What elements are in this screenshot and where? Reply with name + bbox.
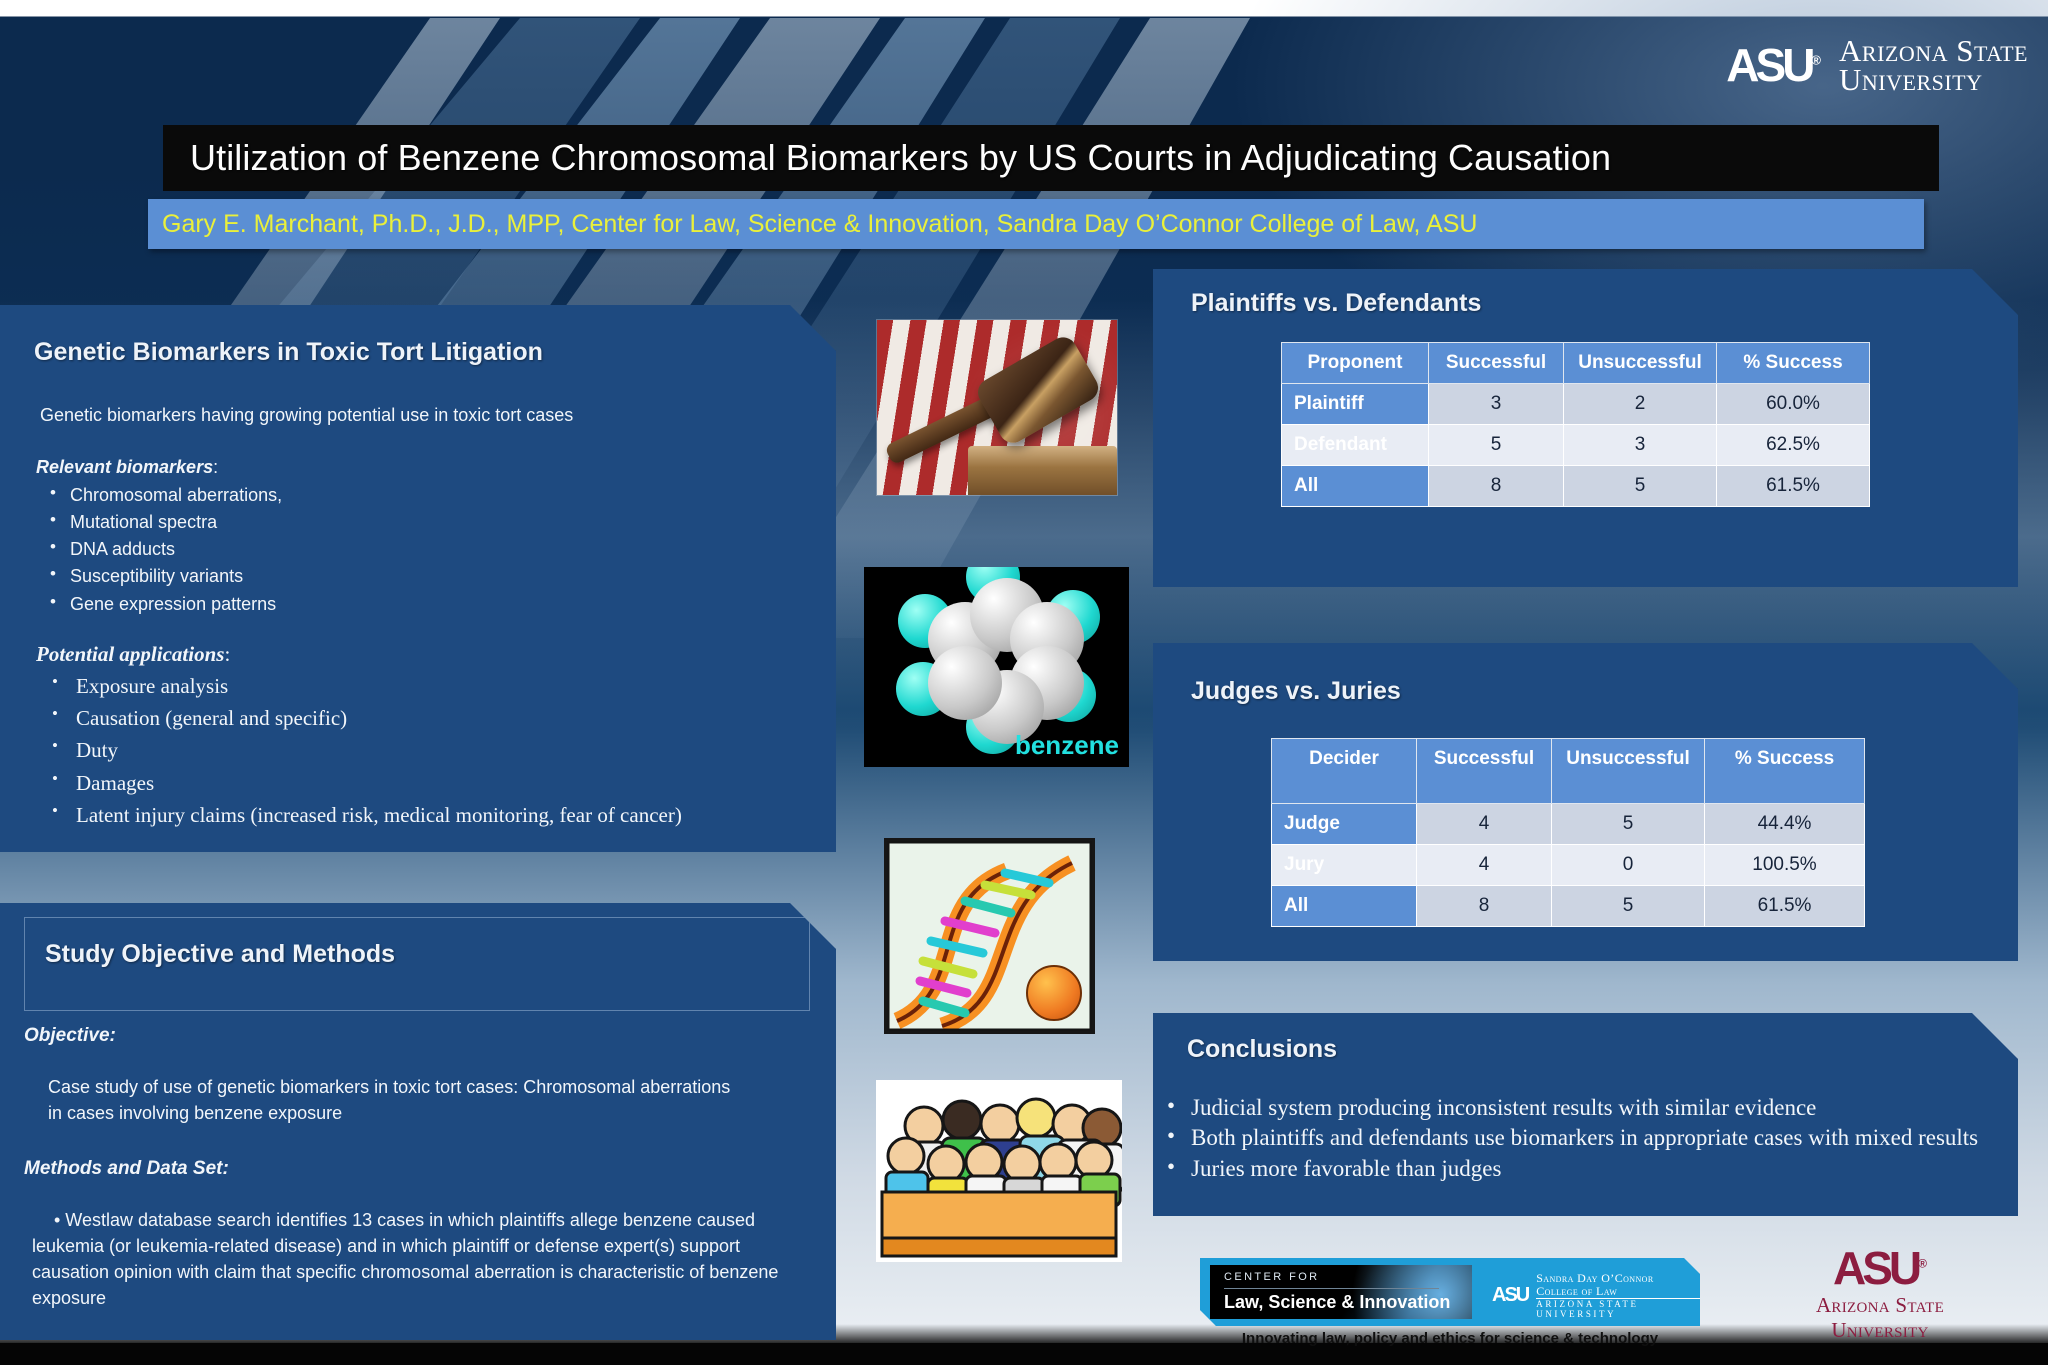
- judges-juries-table: Decider Successful Unsuccessful % Succes…: [1271, 738, 1865, 927]
- asu-logo-header: ASU® Arizona State University: [1726, 36, 2028, 95]
- list-item-text: Both plaintiffs and defendants use bioma…: [1191, 1125, 1978, 1150]
- panel-conclusions-title: Conclusions: [1187, 1035, 1337, 1064]
- panel-plaintiffs-title: Plaintiffs vs. Defendants: [1191, 289, 1481, 318]
- panel-conclusions: Conclusions • Judicial system producing …: [1153, 1013, 2018, 1216]
- plaintiffs-defendants-table: Proponent Successful Unsuccessful % Succ…: [1281, 342, 1870, 507]
- sandra-day-oconnor-logo: ASU Sandra Day O’Connor College of Law A…: [1492, 1272, 1700, 1319]
- asu-wordmark-footer: Arizona State University: [1770, 1293, 1990, 1343]
- cell-successful: 4: [1417, 804, 1552, 845]
- cell-unsuccessful: 5: [1552, 804, 1705, 845]
- cell-successful: 8: [1429, 466, 1564, 507]
- list-item: Damages: [36, 769, 816, 797]
- list-item: DNA adducts: [36, 537, 796, 561]
- study-objective-title-frame: Study Objective and Methods: [24, 917, 810, 1011]
- cell-row-label: All: [1282, 466, 1429, 507]
- panel-judges-title: Judges vs. Juries: [1191, 677, 1401, 706]
- methods-text: • Westlaw database search identifies 13 …: [32, 1207, 792, 1311]
- cell-unsuccessful: 0: [1552, 845, 1705, 886]
- asu-mark-text: ASU: [1833, 1242, 1918, 1294]
- benzene-caption: benzene: [1015, 730, 1119, 761]
- gavel-head-shape: [972, 332, 1103, 448]
- relevant-biomarkers-list: Chromosomal aberrations, Mutational spec…: [36, 483, 796, 616]
- column-header-successful: Successful: [1417, 739, 1552, 804]
- bottom-black-bar: [0, 1343, 2048, 1365]
- law-science-innovation-logo: CENTER FOR Law, Science & Innovation ASU…: [1200, 1258, 1700, 1326]
- authors-bar: Gary E. Marchant, Ph.D., J.D., MPP, Cent…: [148, 199, 1924, 249]
- lsi-tagline: Innovating law, policy and ethics for sc…: [1200, 1330, 1700, 1347]
- asu-logo-footer: ASU® Arizona State University: [1770, 1245, 1990, 1343]
- asu-mark-icon: ASU: [1492, 1284, 1528, 1307]
- jury-box-icon: [876, 1080, 1122, 1262]
- cell-successful: 4: [1417, 845, 1552, 886]
- cell-pct-success: 100.5%: [1705, 845, 1865, 886]
- panel-judges-vs-juries: Judges vs. Juries Decider Successful Uns…: [1153, 643, 2018, 961]
- table-row: Judge 4 5 44.4%: [1272, 804, 1865, 845]
- list-item-text: Judicial system producing inconsistent r…: [1191, 1095, 1816, 1120]
- table-row: All 8 5 61.5%: [1282, 466, 1870, 507]
- college-line3: ARIZONA STATE UNIVERSITY: [1536, 1298, 1700, 1319]
- panel-plaintiffs-vs-defendants: Plaintiffs vs. Defendants Proponent Succ…: [1153, 269, 2018, 587]
- angry-face-icon: [1026, 965, 1082, 1021]
- lsi-logo-black-panel: CENTER FOR Law, Science & Innovation: [1210, 1265, 1472, 1319]
- list-item: Latent injury claims (increased risk, me…: [36, 801, 816, 829]
- cell-row-label: Defendant: [1282, 425, 1429, 466]
- cell-unsuccessful: 5: [1552, 886, 1705, 927]
- table-row: Jury 4 0 100.5%: [1272, 845, 1865, 886]
- authors-line: Gary E. Marchant, Ph.D., J.D., MPP, Cent…: [148, 210, 1477, 239]
- list-item: Chromosomal aberrations,: [36, 483, 796, 507]
- asu-wordmark-line1: Arizona State: [1839, 36, 2028, 65]
- cell-pct-success: 60.0%: [1717, 384, 1870, 425]
- cell-unsuccessful: 3: [1564, 425, 1717, 466]
- list-item-text: Juries more favorable than judges: [1191, 1156, 1501, 1181]
- asu-mark-icon: ASU®: [1770, 1245, 1990, 1291]
- cell-successful: 5: [1429, 425, 1564, 466]
- potential-applications-list: Exposure analysis Causation (general and…: [36, 672, 816, 829]
- table-header-row: Decider Successful Unsuccessful % Succes…: [1272, 739, 1865, 804]
- list-item: Mutational spectra: [36, 510, 796, 534]
- column-header-pct-success: % Success: [1717, 343, 1870, 384]
- cell-pct-success: 61.5%: [1717, 466, 1870, 507]
- cell-pct-success: 44.4%: [1705, 804, 1865, 845]
- cell-row-label: All: [1272, 886, 1417, 927]
- bullet-icon: •: [1167, 1121, 1175, 1151]
- gavel-photo: [877, 320, 1117, 495]
- cell-row-label: Plaintiff: [1282, 384, 1429, 425]
- cell-pct-success: 61.5%: [1705, 886, 1865, 927]
- bullet-icon: •: [1167, 1152, 1175, 1182]
- column-header-unsuccessful: Unsuccessful: [1552, 739, 1705, 804]
- cell-row-label: Jury: [1272, 845, 1417, 886]
- list-item: Exposure analysis: [36, 672, 816, 700]
- jury-illustration: [876, 1080, 1122, 1262]
- column-header-successful: Successful: [1429, 343, 1564, 384]
- relevant-biomarkers-colon: :: [213, 457, 218, 477]
- cell-unsuccessful: 5: [1564, 466, 1717, 507]
- list-item: Gene expression patterns: [36, 592, 796, 616]
- table-row: All 8 5 61.5%: [1272, 886, 1865, 927]
- list-item: Duty: [36, 736, 816, 764]
- asu-mark-icon: ASU®: [1726, 42, 1827, 88]
- asu-wordmark-line2: University: [1839, 65, 2028, 94]
- page-title: Utilization of Benzene Chromosomal Bioma…: [163, 137, 1611, 179]
- table-header-row: Proponent Successful Unsuccessful % Succ…: [1282, 343, 1870, 384]
- list-item: • Judicial system producing inconsistent…: [1165, 1093, 2005, 1123]
- poster-title-bar: Utilization of Benzene Chromosomal Bioma…: [163, 125, 1939, 191]
- column-header-decider: Decider: [1272, 739, 1417, 804]
- column-header-unsuccessful: Unsuccessful: [1564, 343, 1717, 384]
- benzene-molecule-image: benzene: [864, 567, 1129, 767]
- panel-genetic-biomarkers-title: Genetic Biomarkers in Toxic Tort Litigat…: [34, 338, 543, 367]
- cell-successful: 8: [1417, 886, 1552, 927]
- college-wordmark: Sandra Day O’Connor College of Law ARIZO…: [1536, 1272, 1700, 1319]
- list-item: Susceptibility variants: [36, 564, 796, 588]
- registered-icon: ®: [1811, 53, 1821, 68]
- conclusions-list: • Judicial system producing inconsistent…: [1165, 1093, 2005, 1184]
- biomarkers-intro: Genetic biomarkers having growing potent…: [40, 403, 800, 427]
- list-item: • Both plaintiffs and defendants use bio…: [1165, 1123, 2005, 1153]
- poster-canvas: ASU® Arizona State University Utilizatio…: [0, 0, 2048, 1365]
- column-header-proponent: Proponent: [1282, 343, 1429, 384]
- potential-applications-label: Potential applications: [36, 642, 224, 666]
- bullet-icon: •: [1167, 1091, 1175, 1121]
- methods-label: Methods and Data Set:: [24, 1156, 229, 1181]
- gavel-block-shape: [968, 446, 1117, 495]
- panel-study-objective-title: Study Objective and Methods: [45, 940, 395, 969]
- cell-row-label: Judge: [1272, 804, 1417, 845]
- list-item: • Juries more favorable than judges: [1165, 1154, 2005, 1184]
- benzene-carbon-icon: [928, 646, 1002, 720]
- panel-study-objective: Study Objective and Methods Objective: C…: [0, 903, 836, 1340]
- college-line1: Sandra Day O’Connor: [1536, 1272, 1700, 1285]
- college-line2: College of Law: [1536, 1285, 1700, 1298]
- lsi-center-for-label: CENTER FOR: [1224, 1271, 1320, 1283]
- cell-unsuccessful: 2: [1564, 384, 1717, 425]
- dna-illustration: [884, 838, 1095, 1034]
- table-row: Plaintiff 3 2 60.0%: [1282, 384, 1870, 425]
- cell-successful: 3: [1429, 384, 1564, 425]
- objective-text: Case study of use of genetic biomarkers …: [48, 1075, 748, 1126]
- asu-wordmark: Arizona State University: [1839, 36, 2028, 95]
- relevant-biomarkers-label: Relevant biomarkers: [36, 457, 213, 477]
- panel-genetic-biomarkers: Genetic Biomarkers in Toxic Tort Litigat…: [0, 305, 836, 852]
- asu-mark-text: ASU: [1726, 39, 1811, 91]
- list-item: Causation (general and specific): [36, 704, 816, 732]
- cell-pct-success: 62.5%: [1717, 425, 1870, 466]
- column-header-pct-success: % Success: [1705, 739, 1865, 804]
- benzene-ring-shape: [922, 584, 1072, 734]
- lsi-name-label: Law, Science & Innovation: [1224, 1292, 1450, 1313]
- registered-icon: ®: [1918, 1257, 1927, 1271]
- potential-applications-colon: :: [224, 642, 230, 666]
- table-row: Defendant 5 3 62.5%: [1282, 425, 1870, 466]
- objective-label: Objective:: [24, 1023, 116, 1048]
- lsi-divider: [1224, 1288, 1439, 1289]
